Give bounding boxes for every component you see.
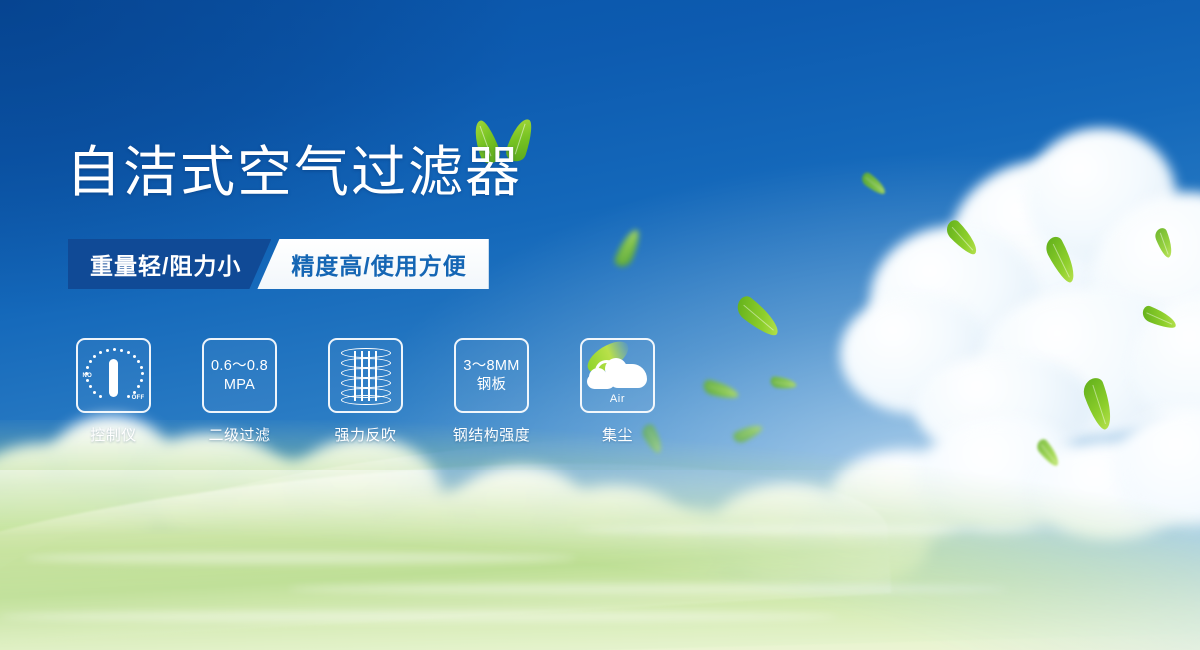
gauge-label-off: OFF: [132, 395, 145, 401]
feature-item-filtration[interactable]: 0.6～0.8 MPA 二级过滤: [202, 338, 277, 445]
cloud-air-icon: Air: [587, 350, 649, 402]
pressure-value: 0.6～0.8: [211, 357, 268, 375]
gauge-label-no: NO: [83, 373, 93, 379]
feature-label: 集尘: [602, 424, 633, 445]
steel-material: 钢板: [463, 376, 519, 394]
subtitle-secondary: 精度高/使用方便: [257, 239, 488, 289]
air-swirl-icon: [595, 360, 618, 383]
steel-icon: 3～8MM 钢板: [463, 357, 519, 393]
floating-leaf: [1140, 304, 1179, 331]
feature-icon-box: 3～8MM 钢板: [454, 338, 529, 413]
grass-field: [0, 420, 1200, 650]
feature-label: 控制仪: [90, 424, 137, 445]
cumulus-cloud: [830, 118, 1200, 448]
floating-leaf: [732, 293, 784, 340]
floating-leaf: [1153, 227, 1176, 260]
feature-item-control[interactable]: NO OFF 控制仪: [76, 338, 151, 445]
floating-leaf: [613, 226, 643, 269]
feature-list: NO OFF 控制仪 0.6～0.8 MPA 二级过滤: [76, 338, 655, 445]
subtitle-bar: 重量轻/阻力小 精度高/使用方便: [68, 239, 489, 289]
feature-icon-box: Air: [580, 338, 655, 413]
steel-thickness: 3～8MM: [463, 357, 519, 375]
gauge-needle: [109, 359, 118, 397]
floating-leaf: [942, 218, 982, 259]
pressure-icon: 0.6～0.8 MPA: [211, 357, 268, 393]
feature-item-steel[interactable]: 3～8MM 钢板 钢结构强度: [454, 338, 529, 445]
cartridge-icon: [341, 348, 391, 404]
feature-icon-box: [328, 338, 403, 413]
floating-leaf: [1042, 234, 1081, 285]
feature-item-blowback[interactable]: 强力反吹: [328, 338, 403, 445]
product-banner: 自洁式空气过滤器 重量轻/阻力小 精度高/使用方便: [0, 0, 1200, 650]
gauge-icon: NO OFF: [84, 347, 144, 405]
feature-label: 钢结构强度: [453, 424, 531, 445]
floating-leaf: [770, 376, 797, 390]
feature-label: 强力反吹: [334, 424, 396, 445]
feature-icon-box: 0.6～0.8 MPA: [202, 338, 277, 413]
air-label: Air: [587, 393, 649, 405]
floating-leaf: [859, 171, 889, 197]
feature-label: 二级过滤: [208, 424, 270, 445]
pressure-unit: MPA: [211, 376, 268, 394]
feature-icon-box: NO OFF: [76, 338, 151, 413]
page-title: 自洁式空气过滤器: [66, 145, 522, 200]
feature-item-dust[interactable]: Air 集尘: [580, 338, 655, 445]
floating-leaf: [702, 379, 740, 401]
subtitle-primary: 重量轻/阻力小: [68, 239, 271, 289]
